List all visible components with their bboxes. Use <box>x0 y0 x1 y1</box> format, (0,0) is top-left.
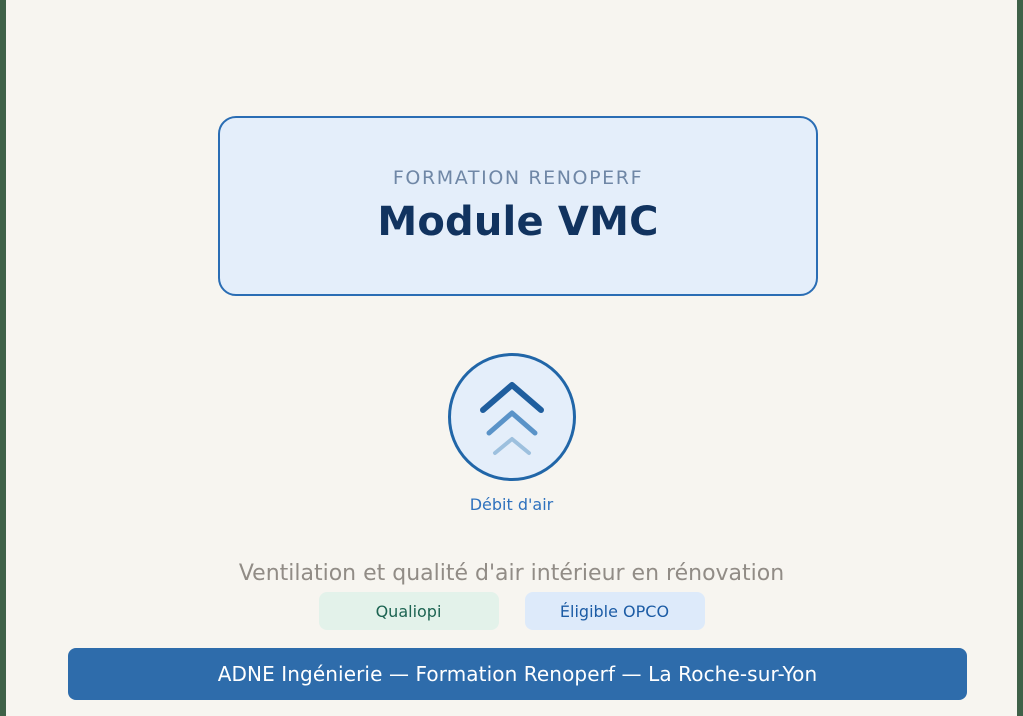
badge-eligible-opco: Éligible OPCO <box>525 592 705 630</box>
airflow-icon-block: Débit d'air <box>6 353 1017 514</box>
slide-canvas: FORMATION RENOPERF Module VMC Débit d'ai… <box>6 0 1017 716</box>
slide-subtitle: Ventilation et qualité d'air intérieur e… <box>6 561 1017 586</box>
course-program-eyebrow: FORMATION RENOPERF <box>393 167 643 189</box>
right-edge-accent-rail <box>1017 0 1023 716</box>
badge-qualiopi: Qualiopi <box>319 592 499 630</box>
triple-chevron-up-icon <box>469 374 555 460</box>
certification-badge-row: Qualiopi Éligible OPCO <box>6 592 1017 630</box>
icon-circle-frame <box>448 353 576 481</box>
footer-organization-bar: ADNE Ingénierie — Formation Renoperf — L… <box>68 648 967 700</box>
icon-caption: Débit d'air <box>470 495 554 514</box>
module-title: Module VMC <box>377 199 658 245</box>
title-card: FORMATION RENOPERF Module VMC <box>218 116 818 296</box>
